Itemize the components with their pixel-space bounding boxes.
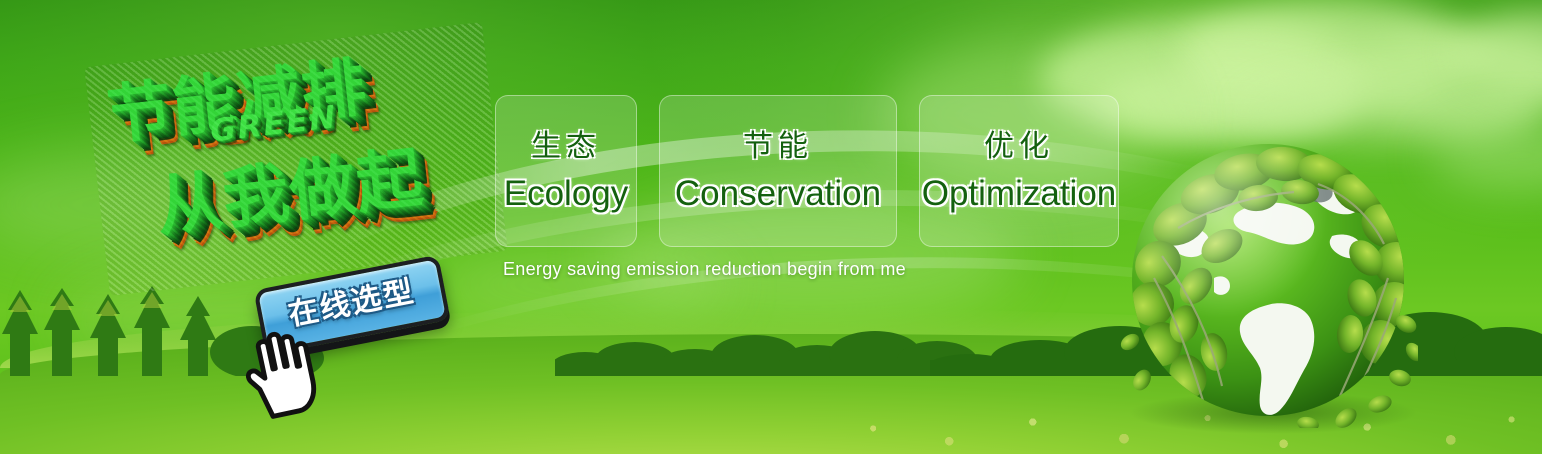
feature-card-title-cn: 节能 bbox=[743, 132, 813, 162]
feature-card-title-en: Optimization bbox=[922, 176, 1117, 211]
cta-button-label: 在线选型 bbox=[286, 277, 417, 331]
feature-card-title-en: Conservation bbox=[675, 176, 881, 211]
leafy-earth-globe-icon bbox=[1118, 128, 1418, 428]
feature-card-title-cn: 生态 bbox=[531, 132, 601, 162]
feature-card-optimization[interactable]: 优化 Optimization bbox=[919, 95, 1119, 247]
hand-pointer-icon bbox=[240, 326, 318, 422]
banner-tagline: Energy saving emission reduction begin f… bbox=[503, 259, 906, 280]
feature-card-title-en: Ecology bbox=[504, 176, 629, 211]
feature-card-ecology[interactable]: 生态 Ecology bbox=[495, 95, 637, 247]
feature-card-conservation[interactable]: 节能 Conservation bbox=[659, 95, 897, 247]
tree-line-icon bbox=[555, 286, 975, 376]
feature-card-title-cn: 优化 bbox=[984, 132, 1054, 162]
feature-card-group: 生态 Ecology 节能 Conservation 优化 Optimizati… bbox=[495, 95, 1119, 247]
green-energy-banner: 节能减排 GREEN 从我做起 在线选型 生态 Ecology 节能 Conse… bbox=[0, 0, 1542, 454]
headline-3d: 节能减排 GREEN 从我做起 bbox=[84, 22, 507, 296]
